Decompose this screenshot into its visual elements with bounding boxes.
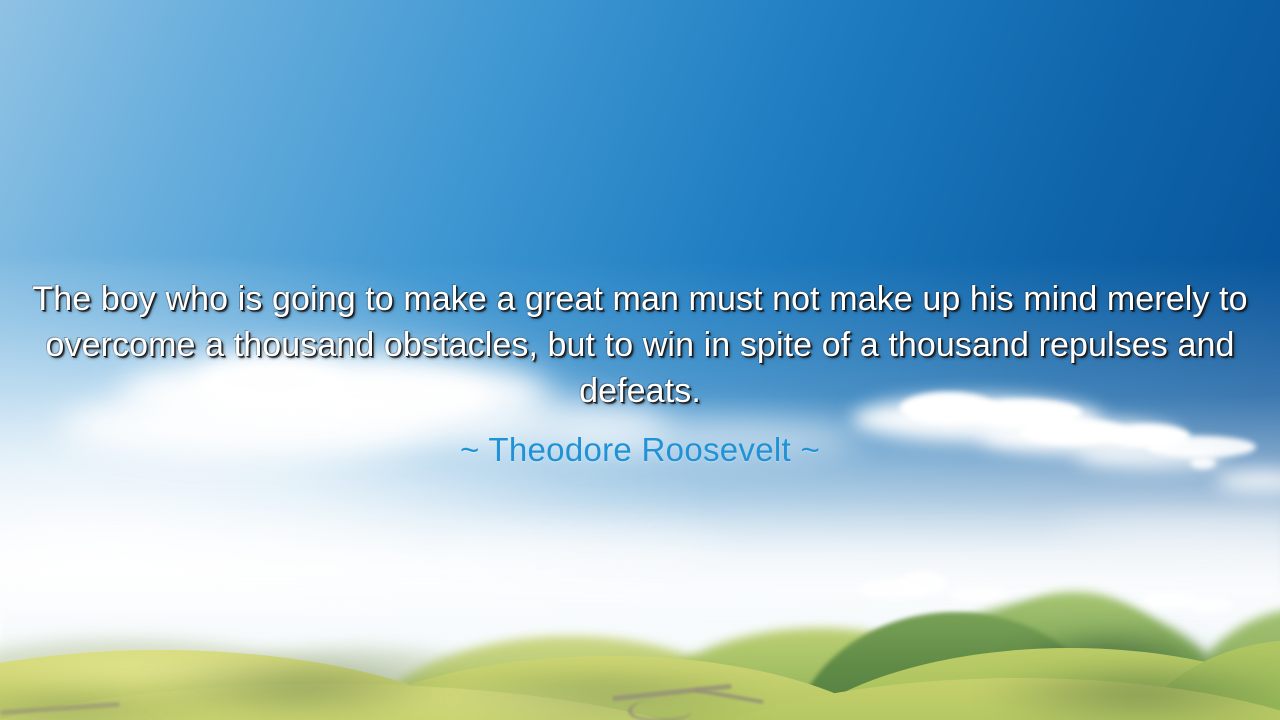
wallpaper-quote-scene: The boy who is going to make a great man… [0,0,1280,720]
winding-path-segment-3 [628,700,692,720]
quote-block: The boy who is going to make a great man… [0,276,1280,470]
quote-author: ~ Theodore Roosevelt ~ [0,414,1280,470]
quote-text: The boy who is going to make a great man… [0,276,1280,414]
